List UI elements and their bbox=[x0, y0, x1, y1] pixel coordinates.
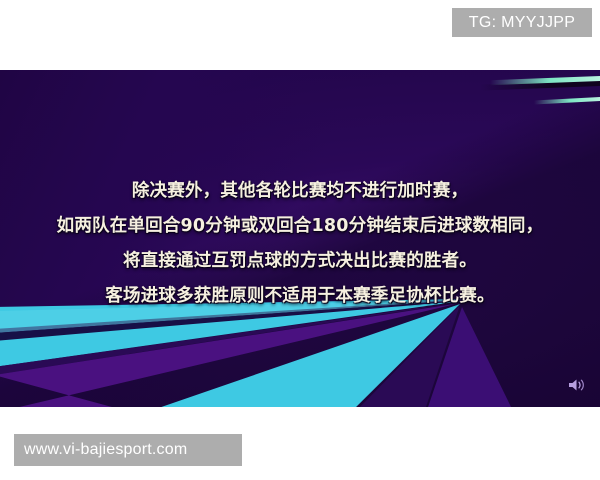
tg-handle-badge: TG: MYYJJPP bbox=[452, 8, 592, 37]
site-watermark-badge: www.vi-bajiesport.com bbox=[14, 434, 242, 466]
tg-handle-label: TG: MYYJJPP bbox=[469, 15, 575, 31]
cyan-rays-decoration bbox=[0, 263, 514, 407]
site-watermark-label: www.vi-bajiesport.com bbox=[24, 442, 187, 458]
speaker-icon[interactable] bbox=[568, 377, 586, 393]
video-banner-stage[interactable]: 除决赛外，其他各轮比赛均不进行加时赛， 如两队在单回合90分钟或双回合180分钟… bbox=[0, 70, 600, 407]
screenshot-root: TG: MYYJJPP 除决赛外，其他各轮比赛均不进行加时赛， 如两队在单回合9… bbox=[0, 0, 600, 480]
